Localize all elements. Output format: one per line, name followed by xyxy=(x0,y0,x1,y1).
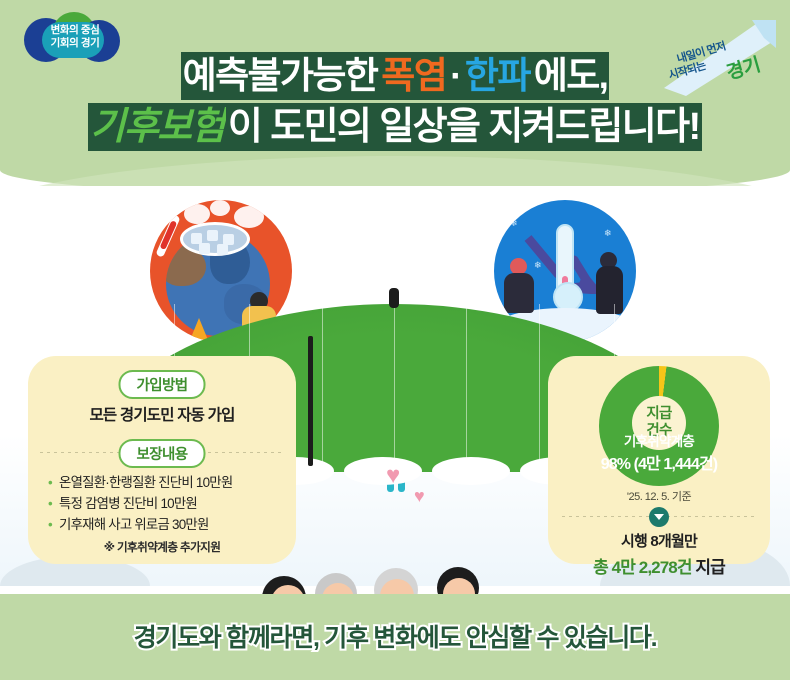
list-item: 온열질환·한랭질환 진단비 10만원 xyxy=(48,472,284,493)
coverage-list: 온열질환·한랭질환 진단비 10만원 특정 감염병 진단비 10만원 기후재해 … xyxy=(40,472,284,535)
poster: 변화의 중심 기회의 경기 내일이 먼저 시작되는 경기 예측불가능한 폭염·한… xyxy=(0,0,790,680)
list-item: 특정 감염병 진단비 10만원 xyxy=(48,493,284,514)
title-suffix: 에도, xyxy=(532,52,610,100)
coverage-pill: 보장내용 xyxy=(119,439,206,468)
how-to-join-value: 모든 경기도민 자동 가입 xyxy=(40,403,284,425)
ice-pack-icon xyxy=(180,222,250,256)
donut-center-line-1: 지급 xyxy=(646,406,671,423)
umbrella-tip xyxy=(389,288,399,308)
title-line-2-rest: 이 도민의 일상을 지켜드립니다! xyxy=(226,103,702,151)
title-line-2: 기후보험이 도민의 일상을 지켜드립니다! xyxy=(0,103,790,151)
donut-caption-line-2: 98% (4만 1,444건) xyxy=(599,450,719,474)
donut-caption-line-1: 기후취약계층 xyxy=(599,430,719,450)
umbrella-pole xyxy=(308,336,313,466)
list-item: 기후재해 사고 위로금 30만원 xyxy=(48,514,284,535)
statistics-card: 지급 건수 기후취약계층 98% (4만 1,444건) '25. 12. 5.… xyxy=(548,356,770,564)
coverage-note: ※ 기후취약계층 추가지원 xyxy=(40,539,284,555)
how-to-join-pill: 가입방법 xyxy=(119,370,206,399)
stat-divider xyxy=(556,506,762,526)
heart-icon xyxy=(386,462,400,490)
donut-caption: 기후취약계층 98% (4만 1,444건) xyxy=(599,430,719,474)
how-to-join-row: 가입방법 xyxy=(40,370,284,396)
chevron-down-icon xyxy=(649,507,669,527)
stat-total-value: 총 4만 2,278건 xyxy=(593,558,691,577)
title-coldwave: 한파 xyxy=(463,52,532,100)
as-of-date: '25. 12. 5. 기준 xyxy=(556,488,762,504)
footer-message: 경기도와 함께라면, 기후 변화에도 안심할 수 있습니다. xyxy=(0,618,790,654)
title-keyword: 기후보험 xyxy=(88,103,225,151)
coverage-info-card: 가입방법 모든 경기도민 자동 가입 보장내용 온열질환·한랭질환 진단비 10… xyxy=(28,356,296,564)
title-line-1: 예측불가능한 폭염·한파에도, xyxy=(0,52,790,100)
stat-total-suffix: 지급 xyxy=(692,558,725,577)
logo-line-2: 기회의 경기 xyxy=(42,37,108,50)
stat-total: 총 4만 2,278건 지급 xyxy=(556,553,762,578)
steam-puff xyxy=(184,204,210,224)
steam-puff xyxy=(234,206,264,228)
heart-icon xyxy=(414,486,425,507)
title-prefix: 예측불가능한 xyxy=(181,52,380,100)
stat-subtitle: 시행 8개월만 xyxy=(556,530,762,551)
logo-text: 변화의 중심 기회의 경기 xyxy=(42,24,108,50)
payout-donut-chart: 지급 건수 기후취약계층 98% (4만 1,444건) xyxy=(599,366,719,486)
thermometer-cold-icon xyxy=(556,224,574,298)
title-heatwave: 폭염 xyxy=(379,52,448,100)
footer-banner: 경기도와 함께라면, 기후 변화에도 안심할 수 있습니다. xyxy=(0,594,790,680)
title-middot: · xyxy=(448,52,463,100)
steam-puff xyxy=(210,200,230,216)
coverage-row: 보장내용 xyxy=(40,439,284,465)
main-title: 예측불가능한 폭염·한파에도, 기후보험이 도민의 일상을 지켜드립니다! xyxy=(0,52,790,151)
logo-line-1: 변화의 중심 xyxy=(42,24,108,37)
